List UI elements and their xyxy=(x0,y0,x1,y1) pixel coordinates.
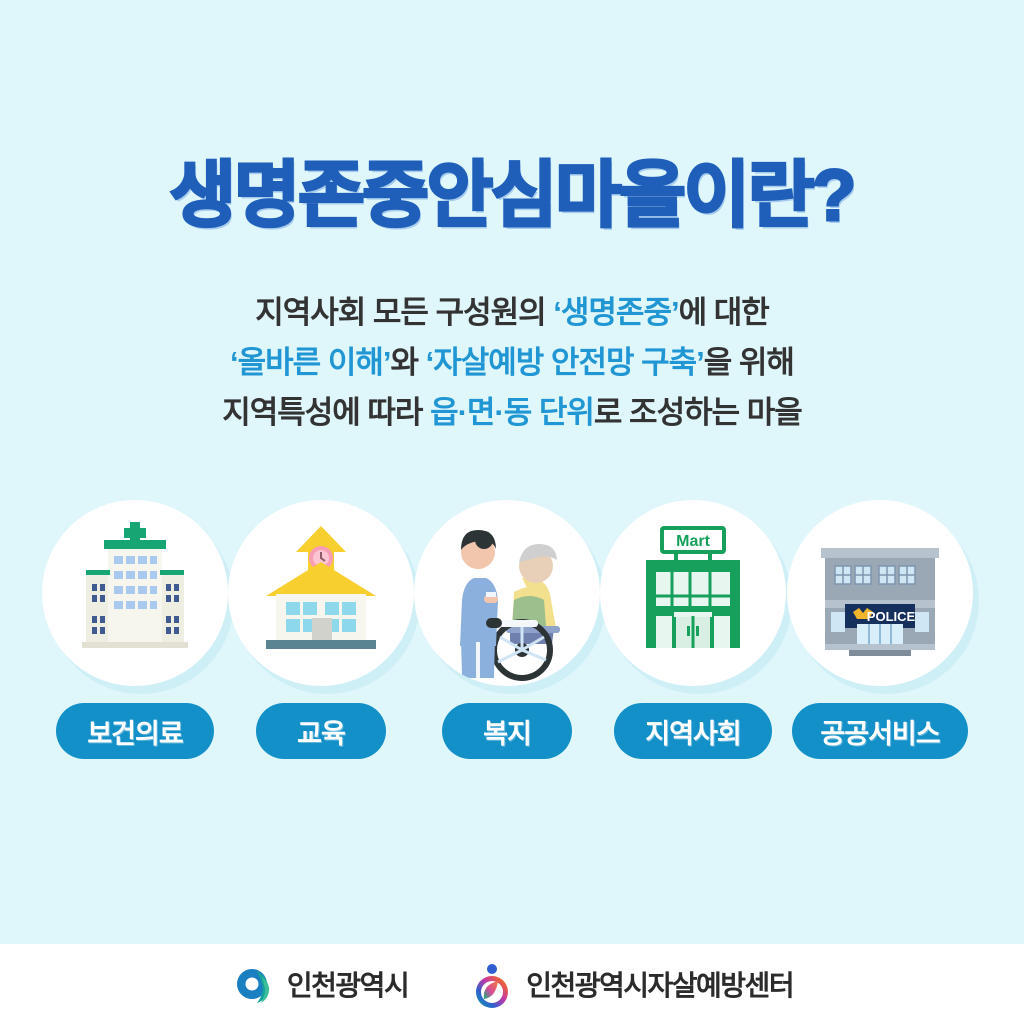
school-icon xyxy=(228,500,414,686)
plain-phrase: 와 xyxy=(390,345,425,380)
highlighted-phrase: 읍·면·동 단위 xyxy=(430,395,594,430)
title-section: 생명존중안심마을이란? xyxy=(0,160,1024,232)
category-pill[interactable]: 공공서비스 xyxy=(792,703,968,759)
incheon-city-logo: 인천광역시 xyxy=(231,961,408,1007)
infographic-card: 생명존중안심마을이란? 지역사회 모든 구성원의 ‘생명존중’에 대한 ‘올바른… xyxy=(0,0,1024,1024)
plain-phrase: 지역사회 모든 구성원의 xyxy=(255,295,553,330)
mart-store-icon: Mart xyxy=(600,500,786,686)
category-icon-cell xyxy=(42,500,228,686)
description-line: ‘올바른 이해’와 ‘자살예방 안전망 구축’을 위해 xyxy=(0,338,1024,388)
highlighted-phrase: ‘생명존중’ xyxy=(553,295,678,330)
category-icon-cell: Mart xyxy=(600,500,786,686)
caregiver-wheelchair-icon xyxy=(414,500,600,686)
category-icon-cell xyxy=(414,500,600,686)
category-icon-row: Mart xyxy=(0,500,1024,690)
category-pill[interactable]: 지역사회 xyxy=(614,703,772,759)
hospital-icon xyxy=(42,500,228,686)
description-line: 지역사회 모든 구성원의 ‘생명존중’에 대한 xyxy=(0,288,1024,338)
incheon-city-emblem-icon xyxy=(231,961,277,1007)
incheon-city-logo-text: 인천광역시 xyxy=(287,964,408,1004)
highlighted-phrase: ‘올바른 이해’ xyxy=(230,345,390,380)
incheon-suicide-prevention-center-logo: 인천광역시자살예방센터 xyxy=(470,959,793,1009)
police-station-icon: POLICE xyxy=(787,500,973,686)
highlighted-phrase: ‘자살예방 안전망 구축’ xyxy=(426,345,704,380)
plain-phrase: 에 대한 xyxy=(679,295,769,330)
page-title: 생명존중안심마을이란? xyxy=(0,160,1024,232)
plain-phrase: 을 위해 xyxy=(704,345,794,380)
footer-logo-bar: 인천광역시 xyxy=(0,944,1024,1024)
suicide-prevention-center-logo-text: 인천광역시자살예방센터 xyxy=(526,964,793,1004)
category-label-row: 보건의료 교육 복지 지역사회 공공서비스 xyxy=(0,703,1024,759)
plain-phrase: 지역특성에 따라 xyxy=(222,395,430,430)
plain-phrase: 로 조성하는 마을 xyxy=(594,395,802,430)
description-line: 지역특성에 따라 읍·면·동 단위로 조성하는 마을 xyxy=(0,388,1024,438)
category-pill[interactable]: 교육 xyxy=(256,703,386,759)
category-pill[interactable]: 보건의료 xyxy=(56,703,214,759)
police-sign-text: POLICE xyxy=(867,609,916,624)
category-pill[interactable]: 복지 xyxy=(442,703,572,759)
suicide-prevention-center-emblem-icon xyxy=(470,959,516,1009)
category-icon-cell: POLICE xyxy=(787,500,973,686)
category-icon-cell xyxy=(228,500,414,686)
mart-sign-text: Mart xyxy=(676,533,710,550)
description-section: 지역사회 모든 구성원의 ‘생명존중’에 대한 ‘올바른 이해’와 ‘자살예방 … xyxy=(0,288,1024,438)
